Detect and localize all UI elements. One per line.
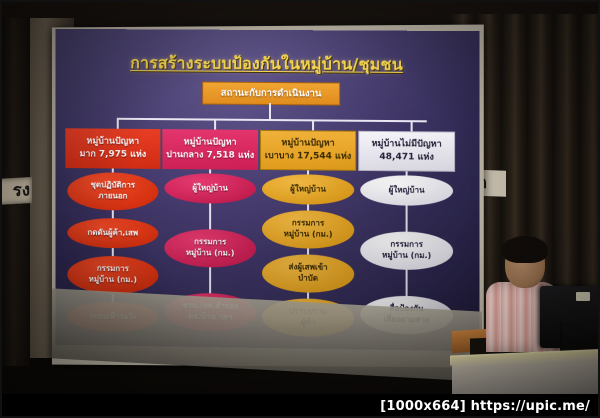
node-group: ชุดปฏิบัติการ ภายนอก กดดันผู้ค้า,เสพ กรร… xyxy=(65,168,160,332)
connector-horizontal-bus xyxy=(117,118,427,123)
slide-title-text: การสร้างระบบป้องกันในหมู่บ้าน/ชุมชน xyxy=(130,53,403,74)
slide-title: การสร้างระบบป้องกันในหมู่บ้าน/ชุมชน xyxy=(55,51,479,79)
connector-drop-2 xyxy=(214,121,216,130)
node-line-2: หมู่บ้าน (กม.) xyxy=(382,250,431,261)
column-header-4: หมู่บ้านไม่มีปัญหา 48,471 แห่ง xyxy=(358,131,455,172)
column-header-4-line1: หมู่บ้านไม่มีปัญหา xyxy=(372,138,442,152)
column-header-1-line1: หมู่บ้านปัญหา xyxy=(87,135,140,148)
column-header-4-line2: 48,471 แห่ง xyxy=(379,151,433,165)
left-wall-sign-text: รง xyxy=(0,177,32,205)
node-group: ผู้ใหญ่บ้าน กรรมการ หมู่บ้าน (กม.) สื่อป… xyxy=(358,171,455,335)
photograph: รง ติด การสร้างระบบป้องกันในหมู่บ้าน/ชุม… xyxy=(0,0,600,418)
column-4-nodes: ผู้ใหญ่บ้าน กรรมการ หมู่บ้าน (กม.) สื่อป… xyxy=(358,171,455,335)
node-group: ผู้ใหญ่บ้าน กรรมการ หมู่บ้าน (กม.) ส่งผู… xyxy=(260,170,356,337)
node-line-1: กดดันผู้ค้า,เสพ xyxy=(87,227,138,238)
node-line-1: ระบบเฝ้าระวัง xyxy=(89,311,136,322)
column-3-nodes: ผู้ใหญ่บ้าน กรรมการ หมู่บ้าน (กม.) ส่งผู… xyxy=(260,170,356,337)
column-header-2-line1: หมู่บ้านปัญหา xyxy=(184,136,237,150)
left-wall-sign: รง xyxy=(0,177,32,205)
node-group: ผู้ใหญ่บ้าน กรรมการ หมู่บ้าน (กม.) ชรบ./… xyxy=(162,169,258,332)
stem xyxy=(406,206,408,232)
column-header-3-line2: เบาบาง 17,544 แห่ง xyxy=(265,150,351,164)
node-line-2: บำบัด xyxy=(298,273,318,284)
stem xyxy=(406,270,408,296)
node-oval: กรรมการ หมู่บ้าน (กม.) xyxy=(360,231,453,270)
stem xyxy=(112,248,114,256)
node-line-2: หมู่บ้าน (กม.) xyxy=(284,229,333,240)
root-node-label: สถานะกับการดำเนินงาน xyxy=(221,86,322,102)
stem xyxy=(112,294,114,302)
node-oval: กรรมการ หมู่บ้าน (กม.) xyxy=(67,255,158,294)
node-line-1: ผู้ใหญ่บ้าน xyxy=(290,184,326,195)
node-line-2: หมู่บ้าน (กม.) xyxy=(89,275,137,286)
node-oval: ชุดปฏิบัติการ ภายนอก xyxy=(67,172,158,211)
node-oval: กรรมการ หมู่บ้าน (กม.) xyxy=(262,210,354,249)
node-oval: ผู้ใหญ่บ้าน xyxy=(262,174,354,205)
node-oval: ระบบเฝ้าระวัง xyxy=(67,301,158,332)
node-oval: กรรมการ หมู่บ้าน (กม.) xyxy=(164,229,256,268)
node-oval: ปราบปราม ผู้ค้า xyxy=(262,298,354,337)
node-oval: กดดันผู้ค้า,เสพ xyxy=(67,218,158,249)
watermark-bar: [1000x664] https://upic.me/ xyxy=(0,394,600,418)
node-line-1: ส่งผู้เสพเข้า xyxy=(288,262,327,273)
connector-drop-4 xyxy=(411,122,413,131)
presenter-hair xyxy=(502,236,548,263)
column-header-3: หมู่บ้านปัญหา เบาบาง 17,544 แห่ง xyxy=(260,130,356,171)
node-line-2: ภายนอก xyxy=(98,191,127,202)
node-line-2: หมู่บ้าน (กม.) xyxy=(186,248,235,259)
node-line-2: ผู้ค้า xyxy=(301,318,316,329)
stem xyxy=(209,203,211,229)
connector-drop-1 xyxy=(117,120,119,129)
node-line-1: กรรมการ xyxy=(194,237,226,248)
node-line-1: กรรมการ xyxy=(390,240,423,251)
node-line-1: ชุดปฏิบัติการ xyxy=(91,180,136,191)
node-oval: ส่งผู้เสพเข้า บำบัด xyxy=(262,254,354,293)
node-line-1: ผู้ใหญ่บ้าน xyxy=(192,183,228,194)
connector-root-vertical xyxy=(269,103,271,119)
node-line-1: ปราบปราม xyxy=(289,307,327,318)
node-line-1: ผู้ใหญ่บ้าน xyxy=(389,185,425,196)
column-header-2: หมู่บ้านปัญหา ปานกลาง 7,518 แห่ง xyxy=(162,129,258,170)
stem xyxy=(209,267,211,293)
node-line-1: กรรมการ xyxy=(292,218,324,229)
connector-drop-3 xyxy=(312,121,314,130)
node-oval: ชรบ./อส.สำรอง ตร.บ้าน ฯลฯ xyxy=(164,293,256,332)
column-header-2-line2: ปานกลาง 7,518 แห่ง xyxy=(166,149,254,163)
column-header-1-line2: มาก 7,975 แห่ง xyxy=(80,148,147,162)
column-1-nodes: ชุดปฏิบัติการ ภายนอก กดดันผู้ค้า,เสพ กรร… xyxy=(65,168,160,332)
watermark-text: [1000x664] https://upic.me/ xyxy=(380,399,590,414)
root-node-box: สถานะกับการดำเนินงาน xyxy=(202,82,340,106)
node-oval: ผู้ใหญ่บ้าน xyxy=(360,175,453,206)
node-line-2: เสี่ยงตามสาย xyxy=(384,315,430,327)
column-header-3-line1: หมู่บ้านปัญหา xyxy=(281,137,334,151)
node-line-1: ชรบ./อส.สำรอง xyxy=(182,301,238,313)
node-line-2: ตร.บ้าน ฯลฯ xyxy=(188,312,232,323)
node-oval: สื่อป้องกัน เสี่ยงตามสาย xyxy=(360,295,453,335)
laptop-sticker xyxy=(576,292,590,301)
node-line-1: กรรมการ xyxy=(97,264,129,275)
column-2-nodes: ผู้ใหญ่บ้าน กรรมการ หมู่บ้าน (กม.) ชรบ./… xyxy=(162,169,258,332)
node-oval: ผู้ใหญ่บ้าน xyxy=(164,173,256,204)
column-header-1: หมู่บ้านปัญหา มาก 7,975 แห่ง xyxy=(65,128,160,169)
node-line-1: สื่อป้องกัน xyxy=(390,304,424,315)
projected-slide: การสร้างระบบป้องกันในหมู่บ้าน/ชุมชน สถาน… xyxy=(55,29,479,351)
stem xyxy=(112,210,114,218)
